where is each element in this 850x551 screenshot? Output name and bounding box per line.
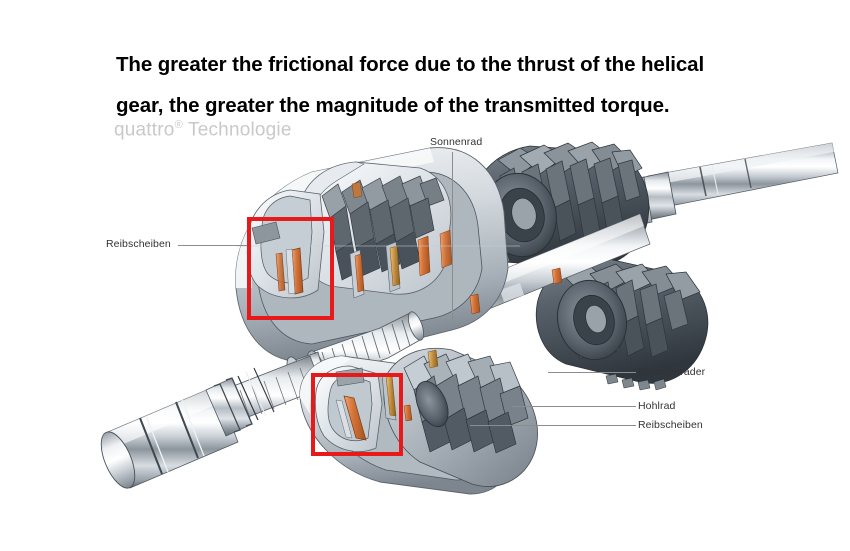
callout-label-reibscheiben-right: Reibscheiben (638, 419, 703, 431)
leader-hohlrad (512, 406, 636, 407)
leader-sonnenrad (452, 152, 453, 322)
differential-assembly (94, 142, 838, 494)
annotation-box-lower[interactable] (311, 373, 403, 456)
title-line-2: gear, the greater the magnitude of the t… (116, 85, 776, 126)
title-line-1: The greater the frictional force due to … (116, 44, 776, 85)
annotation-box-upper[interactable] (247, 217, 334, 320)
leader-reibscheiben-right (470, 425, 636, 426)
slide-canvas: Reibscheiben Sonnenrad Planetenräder Hoh… (0, 0, 850, 551)
leader-reibscheiben-left (178, 245, 248, 246)
callout-label-hohlrad: Hohlrad (638, 400, 675, 412)
slide-title: The greater the frictional force due to … (116, 44, 776, 126)
callout-label-reibscheiben-left: Reibscheiben (106, 238, 171, 250)
callout-label-planetenraeder: Planetenräder (638, 366, 705, 378)
callout-label-sonnenrad: Sonnenrad (430, 136, 482, 148)
leader-planetenraeder (548, 372, 636, 373)
